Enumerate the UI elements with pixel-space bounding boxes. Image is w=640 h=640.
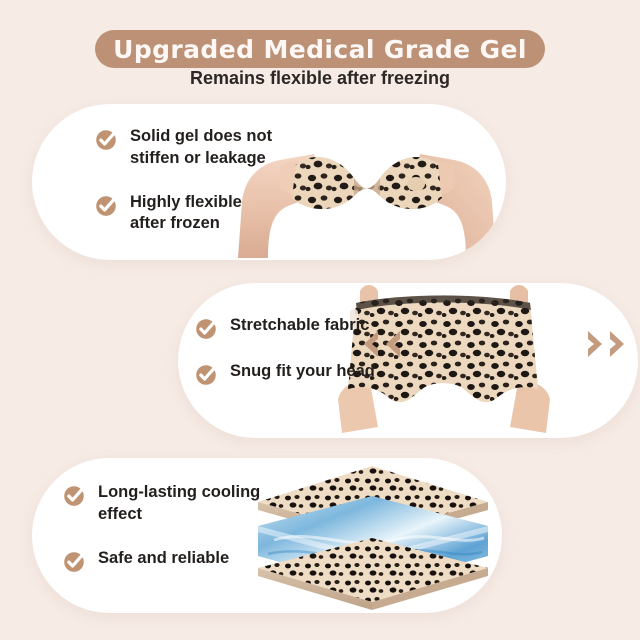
- double-chevron-right-icon: [608, 329, 628, 359]
- double-chevron-right-icon: [586, 329, 606, 359]
- list-item-label: Safe and reliable: [98, 548, 229, 570]
- check-circle-icon: [94, 127, 119, 152]
- feature-card-gel-flexibility: Solid gel does not stiffen or leakage Hi…: [32, 104, 506, 260]
- check-circle-icon: [194, 316, 219, 341]
- check-circle-icon: [62, 483, 87, 508]
- feature-card-cooling-layers: Long-lasting cooling effect Safe and rel…: [32, 458, 502, 613]
- list-item-label: Snug fit your head: [230, 361, 375, 383]
- check-circle-icon: [62, 549, 87, 574]
- feature-card-stretch-fit: Stretchable fabric Snug fit your head: [178, 283, 638, 438]
- list-item: Stretchable fabric: [194, 315, 375, 341]
- check-circle-icon: [94, 193, 119, 218]
- list-item-label: Stretchable fabric: [230, 315, 369, 337]
- list-item: Safe and reliable: [62, 548, 260, 574]
- list-item-label: Highly flexible after frozen: [130, 192, 242, 236]
- page-subtitle: Remains flexible after freezing: [0, 68, 640, 89]
- layered-gel-construction-diagram: [244, 460, 502, 612]
- list-item: Snug fit your head: [194, 361, 375, 387]
- list-item-label: Solid gel does not stiffen or leakage: [130, 126, 272, 170]
- list-item: Solid gel does not stiffen or leakage: [94, 126, 272, 170]
- list-item-label: Long-lasting cooling effect: [98, 482, 260, 526]
- feature-list-card-2: Stretchable fabric Snug fit your head: [194, 315, 375, 387]
- check-circle-icon: [194, 362, 219, 387]
- title-banner: Upgraded Medical Grade Gel: [95, 30, 545, 68]
- page-title: Upgraded Medical Grade Gel: [113, 35, 527, 64]
- stretch-arrow-right: [586, 329, 628, 359]
- list-item: Highly flexible after frozen: [94, 192, 272, 236]
- double-chevron-left-icon: [382, 329, 402, 359]
- feature-list-card-3: Long-lasting cooling effect Safe and rel…: [62, 482, 260, 574]
- infographic-canvas: Upgraded Medical Grade Gel Remains flexi…: [0, 0, 640, 640]
- feature-list-card-1: Solid gel does not stiffen or leakage Hi…: [94, 126, 272, 235]
- list-item: Long-lasting cooling effect: [62, 482, 260, 526]
